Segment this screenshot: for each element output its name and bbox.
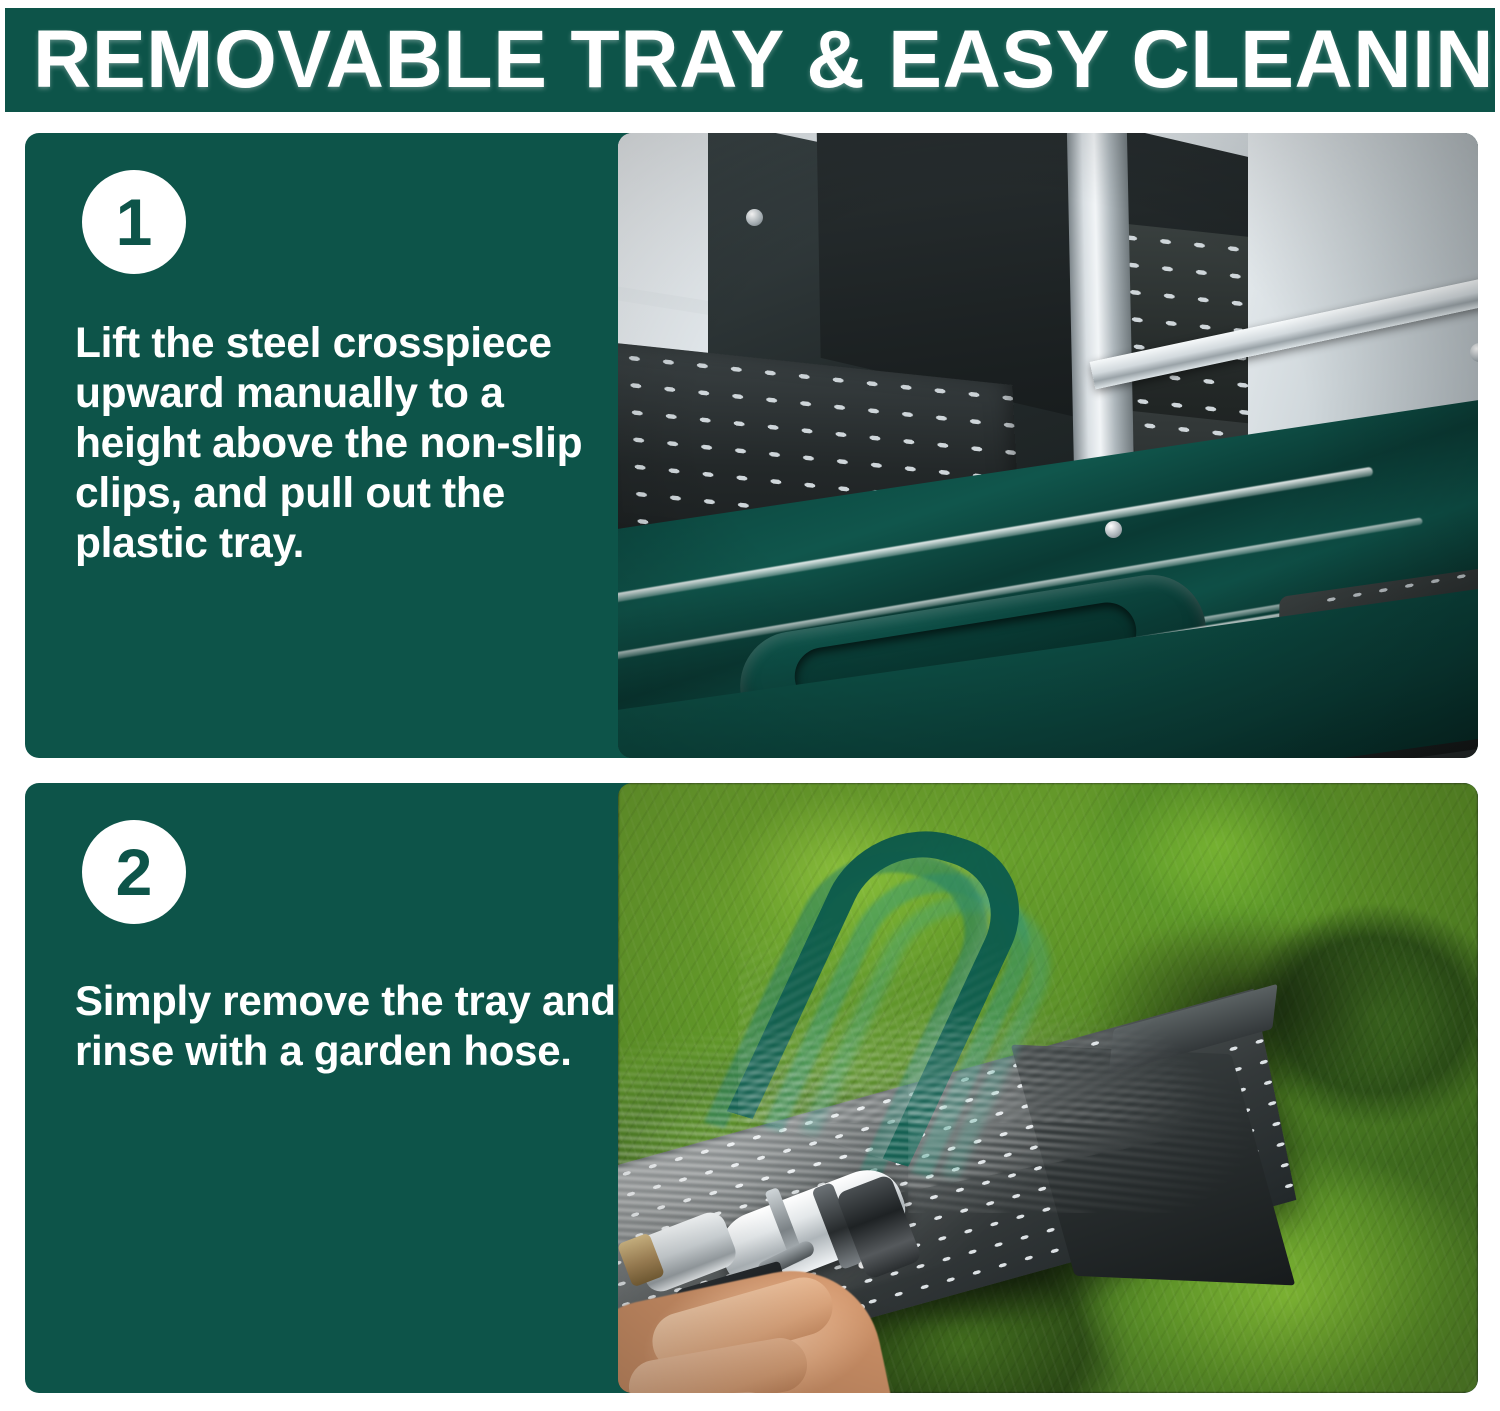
photo-vignette bbox=[618, 783, 1478, 1393]
step-2-description: Simply remove the tray and rinse with a … bbox=[75, 976, 635, 1076]
step-2-photo bbox=[618, 783, 1478, 1393]
step-1-photo bbox=[618, 133, 1478, 758]
step-1-description: Lift the steel crosspiece upward manuall… bbox=[75, 319, 635, 569]
step-panel-1: 1 Lift the steel crosspiece upward manua… bbox=[25, 133, 1478, 758]
page-title: REMOVABLE TRAY & EASY CLEANING bbox=[33, 18, 1495, 102]
step-2-number-badge: 2 bbox=[82, 820, 186, 924]
infographic-page: REMOVABLE TRAY & EASY CLEANING 1 Lift th… bbox=[0, 0, 1500, 1411]
photo-vignette bbox=[618, 133, 1478, 758]
header-banner: REMOVABLE TRAY & EASY CLEANING bbox=[5, 8, 1495, 112]
step-2-text-column: 2 Simply remove the tray and rinse with … bbox=[25, 783, 620, 1393]
step-1-number-badge: 1 bbox=[82, 170, 186, 274]
step-1-text-column: 1 Lift the steel crosspiece upward manua… bbox=[25, 133, 620, 758]
step-panel-2: 2 Simply remove the tray and rinse with … bbox=[25, 783, 1478, 1393]
